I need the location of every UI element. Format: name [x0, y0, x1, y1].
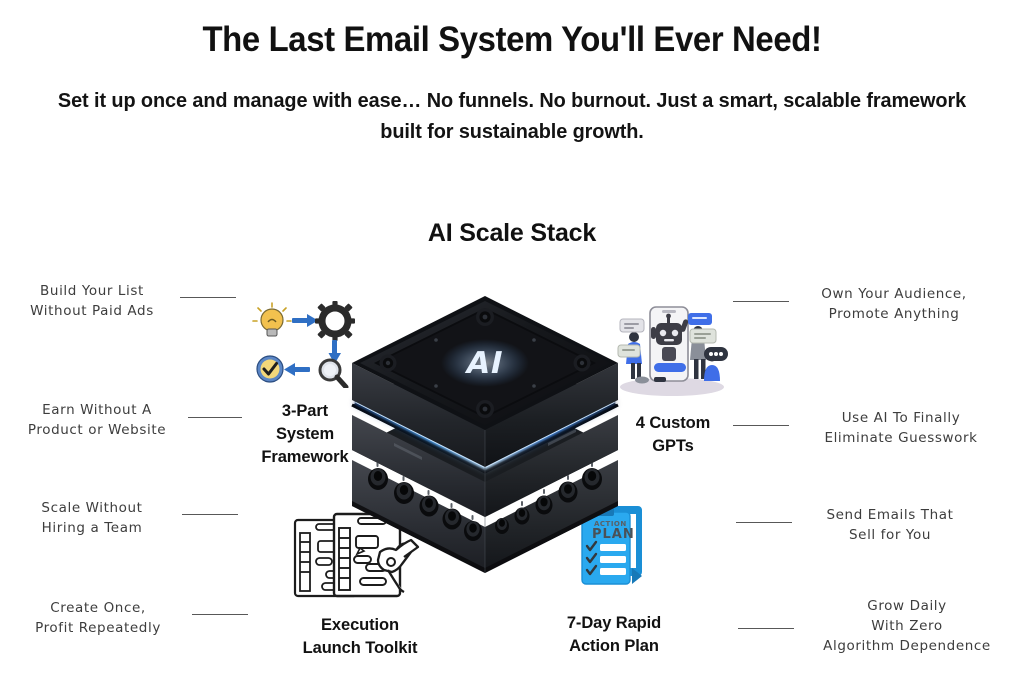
connector-left-3	[182, 514, 238, 515]
poster-canvas: The Last Email System You'll Ever Need! …	[0, 0, 1024, 678]
label-scale-without-team: Scale Without Hiring a Team	[8, 498, 176, 538]
label-build-your-list: Build Your List Without Paid Ads	[8, 281, 176, 321]
caption-seven-day-rapid-action-plan: 7-Day Rapid Action Plan	[532, 612, 696, 658]
connector-left-2	[188, 417, 242, 418]
connector-left-1	[180, 297, 236, 298]
label-own-your-audience: Own Your Audience, Promote Anything	[793, 284, 995, 324]
label-send-emails-that-sell: Send Emails That Sell for You	[796, 505, 984, 545]
connector-right-3	[736, 522, 792, 523]
label-grow-daily-zero-algorithm: Grow Daily With Zero Algorithm Dependenc…	[792, 596, 1022, 656]
svg-text:AI: AI	[463, 346, 507, 381]
label-use-ai-eliminate-guesswork: Use AI To Finally Eliminate Guesswork	[793, 408, 1009, 448]
connector-right-1	[733, 301, 789, 302]
ai-scale-stack-device: AI	[330, 255, 640, 585]
caption-execution-launch-toolkit: Execution Launch Toolkit	[280, 614, 440, 660]
label-create-once: Create Once, Profit Repeatedly	[8, 598, 188, 638]
page-title: The Last Email System You'll Ever Need!	[31, 20, 994, 60]
connector-right-4	[738, 628, 794, 629]
page-subtitle: Set it up once and manage with ease… No …	[42, 85, 983, 147]
label-earn-without-product: Earn Without A Product or Website	[8, 400, 186, 440]
diagram-title: AI Scale Stack	[0, 219, 1024, 248]
connector-right-2	[733, 425, 789, 426]
connector-left-4	[192, 614, 248, 615]
